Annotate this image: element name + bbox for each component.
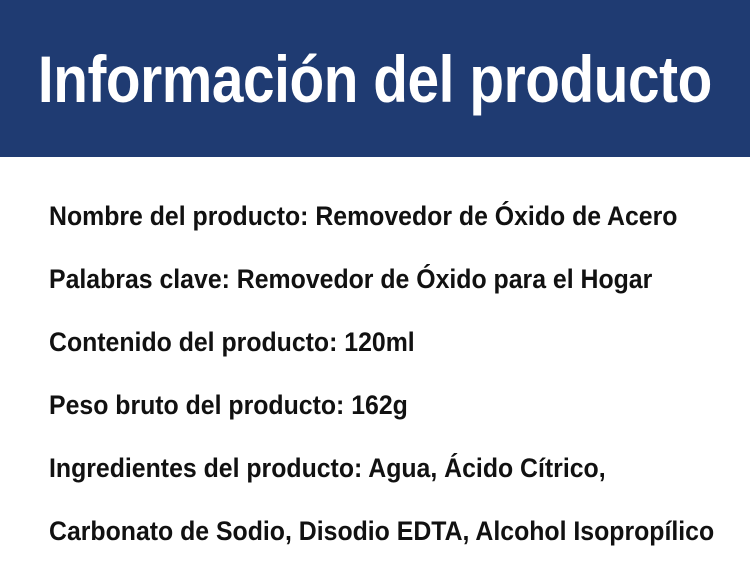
product-specs-body: Nombre del producto: Removedor de Óxido …: [0, 157, 750, 579]
header-banner: Información del producto: [0, 0, 750, 157]
spec-line-ingredients-continued: Carbonato de Sodio, Disodio EDTA, Alcoho…: [49, 500, 694, 563]
product-spec-list: Nombre del producto: Removedor de Óxido …: [49, 185, 750, 563]
spec-line-content-volume: Contenido del producto: 120ml: [49, 311, 694, 374]
spec-line-gross-weight: Peso bruto del producto: 162g: [49, 374, 694, 437]
spec-line-product-name: Nombre del producto: Removedor de Óxido …: [49, 185, 694, 248]
spec-line-ingredients: Ingredientes del producto: Agua, Ácido C…: [49, 437, 694, 500]
page-title: Información del producto: [38, 46, 712, 112]
product-info-card: Información del producto Nombre del prod…: [0, 0, 750, 579]
spec-line-keywords: Palabras clave: Removedor de Óxido para …: [49, 248, 694, 311]
